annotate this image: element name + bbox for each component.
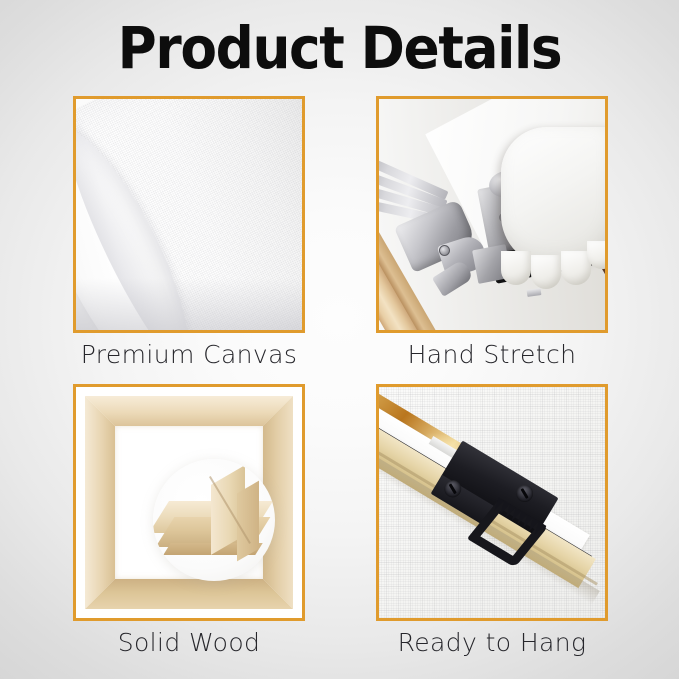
- frame-rail-bottom: [85, 579, 293, 609]
- glove-finger-1: [501, 251, 531, 285]
- frame-rail-top: [85, 396, 293, 426]
- joint-right-front-face: [237, 481, 259, 562]
- feature-label-hand-stretch: Hand Stretch: [376, 340, 608, 370]
- hand-stretch-image: [379, 99, 605, 330]
- feature-label-ready-to-hang: Ready to Hang: [376, 628, 608, 658]
- corner-joint-closeup: [153, 459, 275, 581]
- page-title: Product Details: [27, 16, 652, 80]
- premium-canvas-image: [76, 99, 302, 330]
- feature-panel-hand-stretch: [376, 96, 608, 333]
- feature-panel-ready-to-hang: [376, 384, 608, 621]
- feature-label-premium-canvas: Premium Canvas: [73, 340, 305, 370]
- canvas-shadow: [76, 278, 302, 330]
- solid-wood-image: [76, 387, 302, 618]
- glove-finger-2: [531, 255, 561, 289]
- frame-rail-left: [85, 396, 115, 609]
- product-details-infographic: Product Details Premium Canvas: [0, 0, 679, 679]
- feature-panel-premium-canvas: [73, 96, 305, 333]
- canvas-pliers-pivot: [439, 245, 450, 256]
- feature-panel-solid-wood: [73, 384, 305, 621]
- ready-to-hang-image: [379, 387, 605, 618]
- feature-label-solid-wood: Solid Wood: [73, 628, 305, 658]
